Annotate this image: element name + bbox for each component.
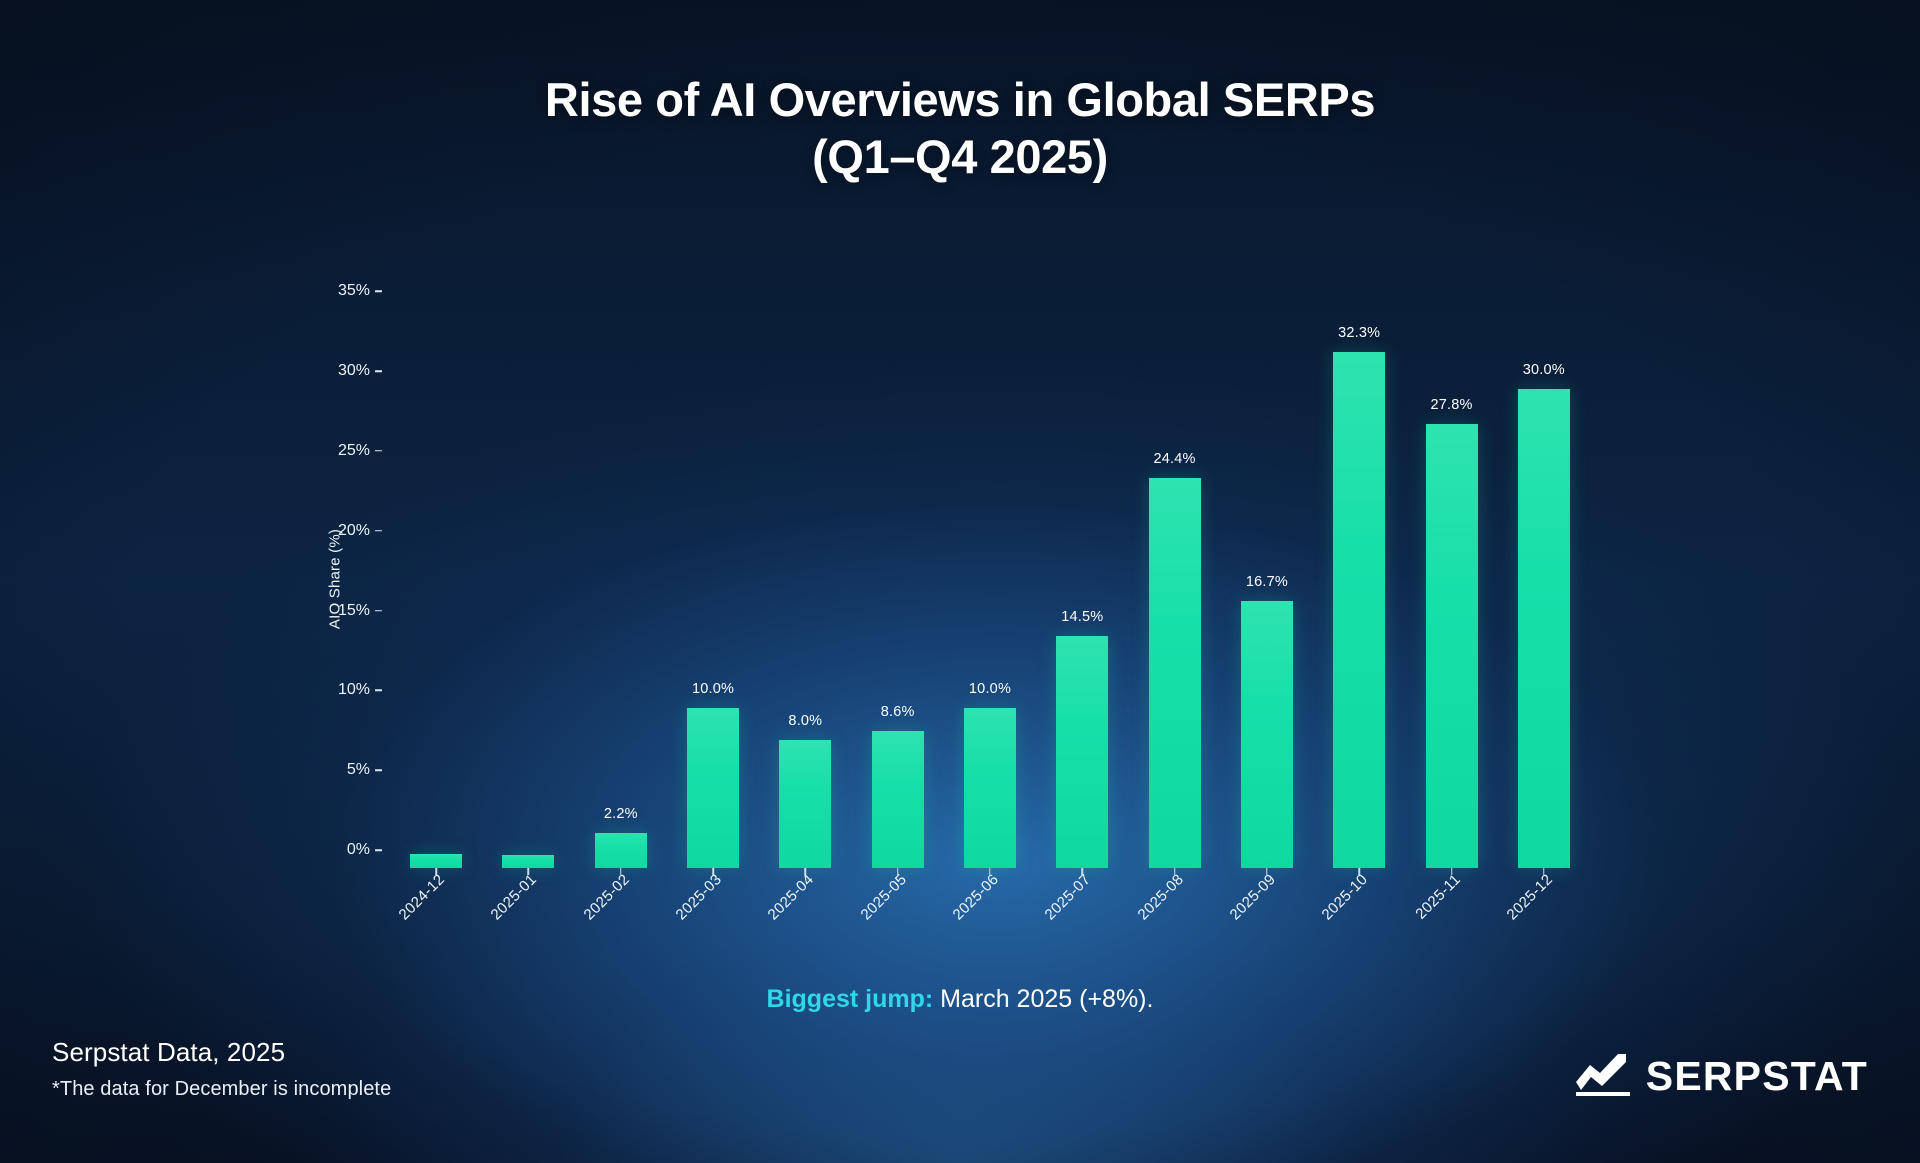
y-axis-tick-mark xyxy=(375,769,382,771)
infographic-canvas: Rise of AI Overviews in Global SERPs (Q1… xyxy=(0,0,1920,1163)
bar[interactable] xyxy=(779,740,831,868)
bar[interactable] xyxy=(502,855,554,868)
y-axis-tick-label: 20% xyxy=(338,522,370,539)
footer-note: *The data for December is incomplete xyxy=(52,1078,391,1101)
y-axis-tick: 20% xyxy=(338,522,390,540)
bar[interactable] xyxy=(964,708,1016,868)
bar-group: 8.6%2025-05 xyxy=(852,290,944,868)
bar[interactable] xyxy=(1426,424,1478,868)
x-axis-tick-label: 2025-01 xyxy=(488,871,540,923)
y-axis-tick-mark xyxy=(375,849,382,851)
x-axis-tick-label: 2025-12 xyxy=(1503,871,1555,923)
bar-value-label: 10.0% xyxy=(692,681,734,697)
y-axis-tick: 10% xyxy=(338,681,390,699)
bar-group: 10.0%2025-03 xyxy=(667,290,759,868)
y-axis-tick-label: 30% xyxy=(338,362,370,379)
y-axis-tick-label: 25% xyxy=(338,442,370,459)
y-axis-tick-label: 10% xyxy=(338,681,370,698)
y-axis-tick-label: 15% xyxy=(338,602,370,619)
bar-value-label: 32.3% xyxy=(1338,325,1380,341)
y-axis-tick-mark xyxy=(375,530,382,532)
x-axis-tick-label: 2025-06 xyxy=(950,871,1002,923)
bar-value-label: 14.5% xyxy=(1061,609,1103,625)
x-axis-tick-label: 2025-02 xyxy=(580,871,632,923)
bar[interactable] xyxy=(1149,478,1201,868)
bar-value-label: 8.0% xyxy=(788,713,822,729)
bar[interactable] xyxy=(1241,601,1293,868)
x-axis-tick-label: 2024-12 xyxy=(396,871,448,923)
bar-group: 32.3%2025-10 xyxy=(1313,290,1405,868)
bar[interactable] xyxy=(1056,636,1108,868)
title-line-1: Rise of AI Overviews in Global SERPs xyxy=(0,72,1920,129)
y-axis-tick-label: 0% xyxy=(347,841,370,858)
y-axis-tick-label: 5% xyxy=(347,761,370,778)
bar-value-label: 27.8% xyxy=(1430,397,1472,413)
y-axis-tick: 0% xyxy=(347,841,390,859)
bar-group: 10.0%2025-06 xyxy=(944,290,1036,868)
bar-group: 30.0%2025-12 xyxy=(1498,290,1590,868)
bar[interactable] xyxy=(1518,389,1570,868)
x-axis-tick-label: 2025-10 xyxy=(1319,871,1371,923)
bar-group: 27.8%2025-11 xyxy=(1405,290,1497,868)
y-axis-tick-mark xyxy=(375,450,382,452)
x-axis-tick-label: 2025-05 xyxy=(857,871,909,923)
bar-value-label: 24.4% xyxy=(1154,451,1196,467)
bar-group: 2.2%2025-02 xyxy=(575,290,667,868)
bar-group: 24.4%2025-08 xyxy=(1128,290,1220,868)
annotation-accent: Biggest jump: xyxy=(767,985,934,1013)
bar-group: 8.0%2025-04 xyxy=(759,290,851,868)
x-axis-tick-label: 2025-08 xyxy=(1134,871,1186,923)
brand-lockup: SERPSTAT xyxy=(1574,1052,1868,1101)
y-axis-tick: 15% xyxy=(338,602,390,620)
bar-value-label: 10.0% xyxy=(969,681,1011,697)
y-axis-tick: 5% xyxy=(347,761,390,779)
bar[interactable] xyxy=(872,731,924,868)
annotation-rest: March 2025 (+8%). xyxy=(933,985,1153,1013)
x-axis-tick-label: 2025-03 xyxy=(673,871,725,923)
bar-value-label: 2.2% xyxy=(604,806,638,822)
x-axis-tick-label: 2025-09 xyxy=(1226,871,1278,923)
bar-value-label: 8.6% xyxy=(881,704,915,720)
bar-value-label: 30.0% xyxy=(1523,362,1565,378)
bar[interactable] xyxy=(687,708,739,868)
y-axis-tick-mark xyxy=(375,610,382,612)
bar-group: 16.7%2025-09 xyxy=(1221,290,1313,868)
bar-chart: AIO Share (%) 0%5%10%15%20%25%30%35% 202… xyxy=(390,290,1590,868)
annotation-callout: Biggest jump: March 2025 (+8%). xyxy=(0,985,1920,1014)
y-axis-tick-mark xyxy=(375,690,382,692)
title-line-2: (Q1–Q4 2025) xyxy=(0,129,1920,186)
brand-name: SERPSTAT xyxy=(1646,1053,1868,1100)
page-title: Rise of AI Overviews in Global SERPs (Q1… xyxy=(0,72,1920,186)
y-axis-tick-mark xyxy=(375,370,382,372)
y-axis-tick-mark xyxy=(375,290,382,292)
serpstat-logo-icon xyxy=(1574,1052,1632,1101)
y-axis-tick: 35% xyxy=(338,282,390,300)
bar-group: 14.5%2025-07 xyxy=(1036,290,1128,868)
bar-value-label: 16.7% xyxy=(1246,574,1288,590)
x-axis-tick-label: 2025-04 xyxy=(765,871,817,923)
bars-container: 2024-122025-012.2%2025-0210.0%2025-038.0… xyxy=(390,290,1590,868)
bar-group: 2024-12 xyxy=(390,290,482,868)
x-axis-tick-label: 2025-07 xyxy=(1042,871,1094,923)
bar-group: 2025-01 xyxy=(482,290,574,868)
x-axis-tick-label: 2025-11 xyxy=(1412,871,1464,923)
bar[interactable] xyxy=(1333,352,1385,868)
footer-source: Serpstat Data, 2025 xyxy=(52,1037,391,1068)
y-axis-tick: 25% xyxy=(338,442,390,460)
bar[interactable] xyxy=(410,854,462,868)
y-axis-tick: 30% xyxy=(338,362,390,380)
bar[interactable] xyxy=(595,833,647,868)
footer: Serpstat Data, 2025 *The data for Decemb… xyxy=(52,1037,391,1101)
y-axis-tick-label: 35% xyxy=(338,282,370,299)
